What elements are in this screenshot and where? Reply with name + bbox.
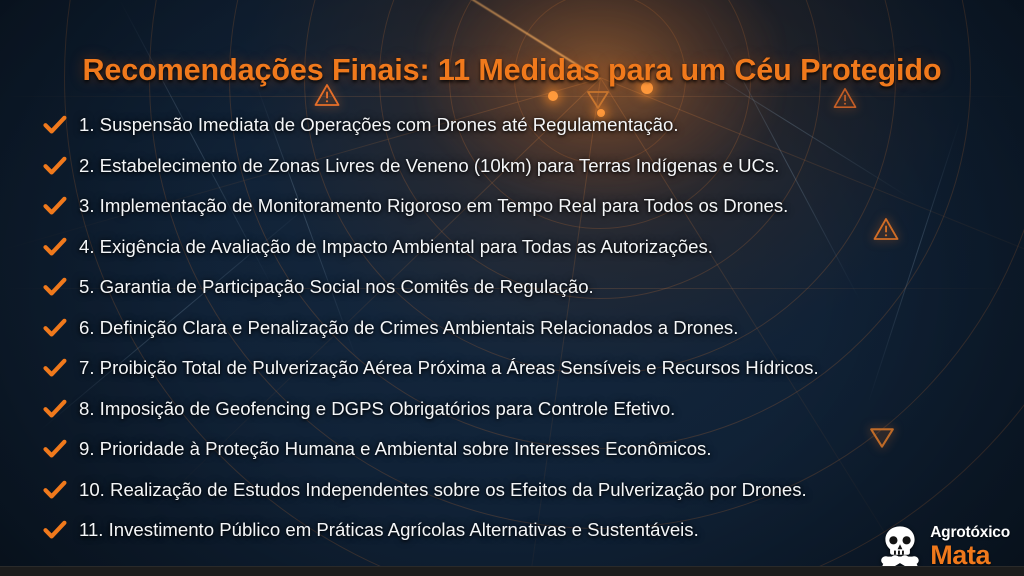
list-item: 4. Exigência de Avaliação de Impacto Amb… — [0, 227, 1024, 268]
brand-wordmark: Agrotóxico Mata — [930, 525, 1010, 569]
list-item: 3. Implementação de Monitoramento Rigoro… — [0, 186, 1024, 227]
list-item-label: 1. Suspensão Imediata de Operações com D… — [79, 114, 679, 136]
list-item: 8. Imposição de Geofencing e DGPS Obriga… — [0, 389, 1024, 430]
skull-and-crossbones-icon — [878, 524, 922, 570]
check-icon — [42, 315, 68, 341]
brand-logo: Agrotóxico Mata — [878, 524, 1010, 570]
list-item-label: 6. Definição Clara e Penalização de Crim… — [79, 317, 738, 339]
list-item: 6. Definição Clara e Penalização de Crim… — [0, 308, 1024, 349]
list-item-label: 2. Estabelecimento de Zonas Livres de Ve… — [79, 155, 779, 177]
brand-line-1: Agrotóxico — [930, 525, 1010, 541]
list-item-label: 9. Prioridade à Proteção Humana e Ambien… — [79, 438, 712, 460]
list-item: 11. Investimento Público em Práticas Agr… — [0, 510, 1024, 551]
list-item: 2. Estabelecimento de Zonas Livres de Ve… — [0, 146, 1024, 187]
list-item-label: 4. Exigência de Avaliação de Impacto Amb… — [79, 236, 713, 258]
check-icon — [42, 112, 68, 138]
check-icon — [42, 234, 68, 260]
brand-line-2: Mata — [930, 542, 1010, 569]
check-icon — [42, 477, 68, 503]
check-icon — [42, 153, 68, 179]
recommendations-list: 1. Suspensão Imediata de Operações com D… — [0, 105, 1024, 551]
list-item-label: 3. Implementação de Monitoramento Rigoro… — [79, 195, 788, 217]
check-icon — [42, 193, 68, 219]
list-item-label: 11. Investimento Público em Práticas Agr… — [79, 519, 699, 541]
list-item: 7. Proibição Total de Pulverização Aérea… — [0, 348, 1024, 389]
list-item-label: 5. Garantia de Participação Social nos C… — [79, 276, 594, 298]
list-item: 1. Suspensão Imediata de Operações com D… — [0, 105, 1024, 146]
list-item-label: 7. Proibição Total de Pulverização Aérea… — [79, 357, 819, 379]
check-icon — [42, 274, 68, 300]
radar-blip — [548, 91, 558, 101]
check-icon — [42, 436, 68, 462]
list-item: 5. Garantia de Participação Social nos C… — [0, 267, 1024, 308]
check-icon — [42, 355, 68, 381]
list-item-label: 10. Realização de Estudos Independentes … — [79, 479, 807, 501]
check-icon — [42, 517, 68, 543]
page-title: Recomendações Finais: 11 Medidas para um… — [0, 53, 1024, 88]
letterbox-bar — [0, 566, 1024, 576]
slide-root: Recomendações Finais: 11 Medidas para um… — [0, 0, 1024, 576]
list-item-label: 8. Imposição de Geofencing e DGPS Obriga… — [79, 398, 675, 420]
check-icon — [42, 396, 68, 422]
list-item: 10. Realização de Estudos Independentes … — [0, 470, 1024, 511]
list-item: 9. Prioridade à Proteção Humana e Ambien… — [0, 429, 1024, 470]
